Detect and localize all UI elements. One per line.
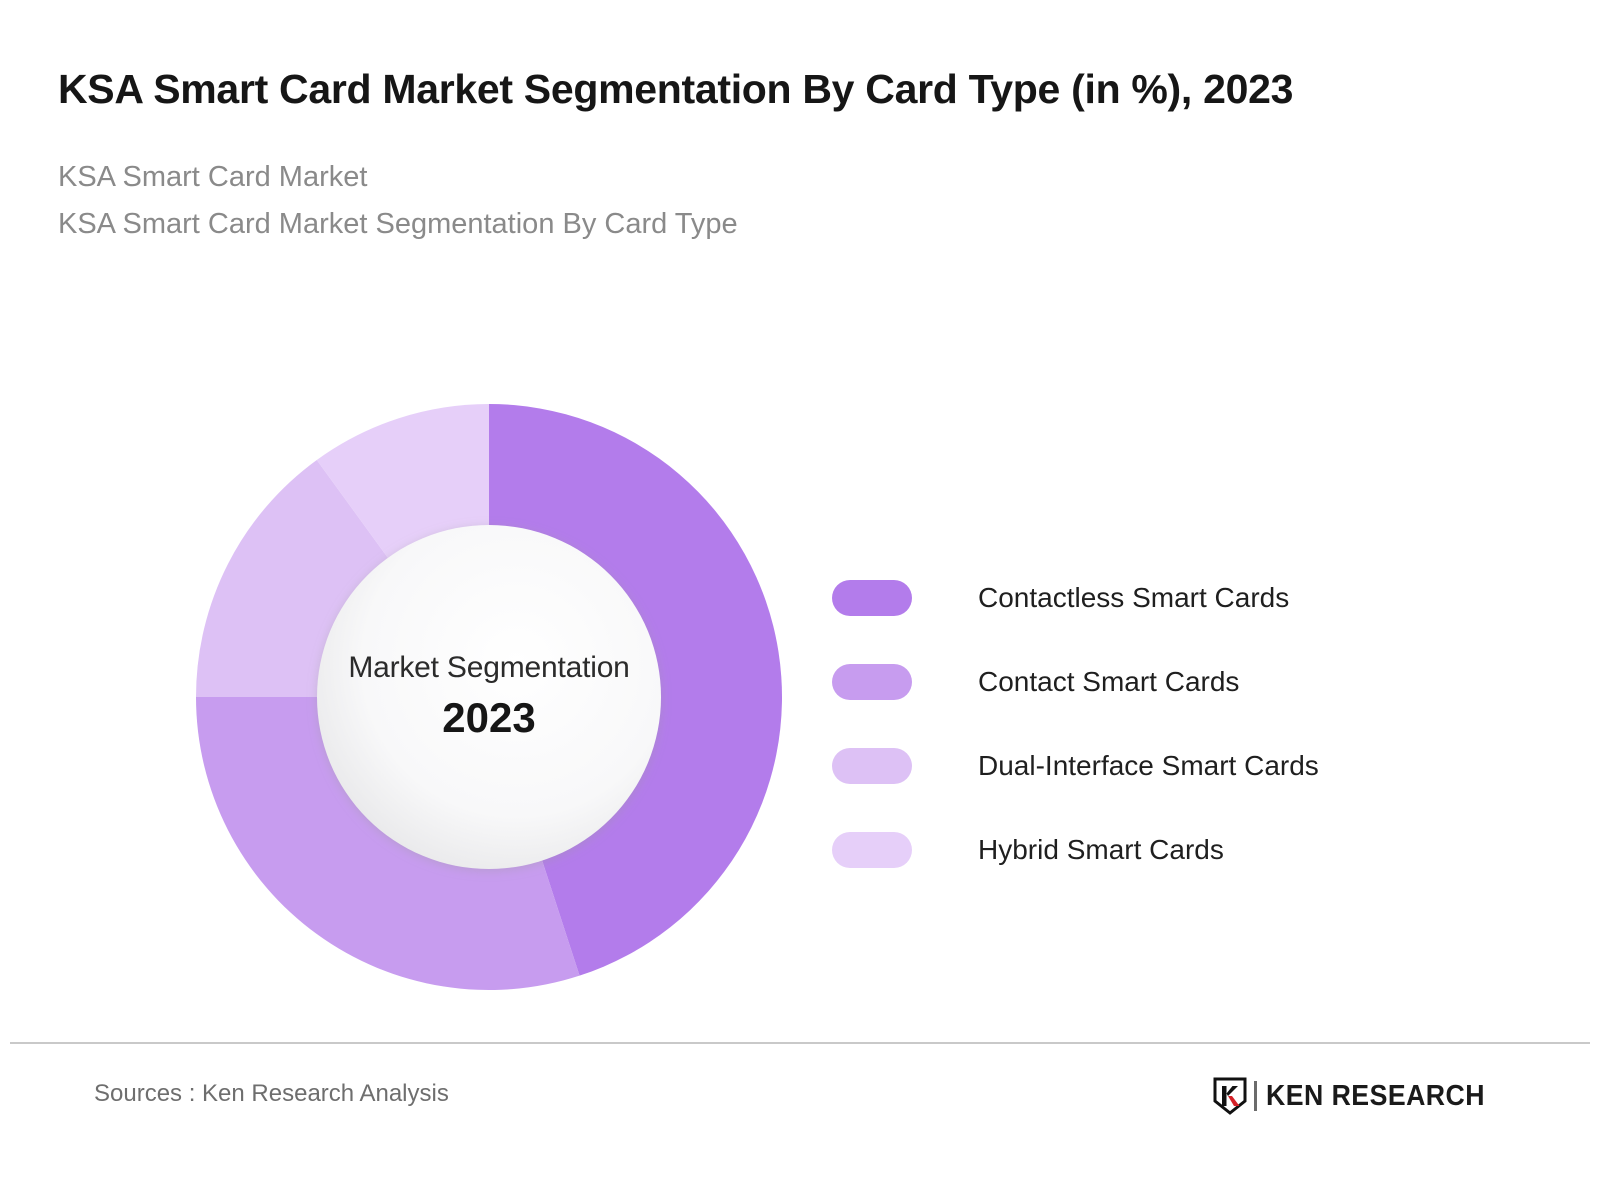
donut-hole [317, 525, 661, 869]
legend-swatch-icon [832, 664, 912, 700]
shield-k-icon [1213, 1077, 1247, 1115]
chart-header: KSA Smart Card Market Segmentation By Ca… [58, 62, 1478, 248]
ken-research-logo: KEN RESEARCH [1213, 1076, 1504, 1116]
chart-page: KSA Smart Card Market Segmentation By Ca… [0, 0, 1600, 1200]
logo-divider [1254, 1081, 1257, 1111]
chart-area: Market Segmentation 2023 Contactless Sma… [0, 380, 1600, 1020]
legend-item[interactable]: Dual-Interface Smart Cards [832, 724, 1452, 808]
donut-svg [194, 402, 784, 992]
subtitle-segmentation: KSA Smart Card Market Segmentation By Ca… [58, 201, 1478, 248]
legend-item-label: Hybrid Smart Cards [978, 833, 1224, 867]
chart-footer: Sources : Ken Research Analysis KEN RESE… [0, 1060, 1600, 1140]
legend-swatch-icon [832, 748, 912, 784]
legend-item[interactable]: Hybrid Smart Cards [832, 808, 1452, 892]
subtitle-market: KSA Smart Card Market [58, 154, 1478, 201]
subtitle-block: KSA Smart Card Market KSA Smart Card Mar… [58, 154, 1478, 248]
logo-wordmark: KEN RESEARCH [1266, 1080, 1485, 1113]
footer-divider [10, 1042, 1590, 1044]
legend-item[interactable]: Contact Smart Cards [832, 640, 1452, 724]
legend-item-label: Contact Smart Cards [978, 665, 1239, 699]
donut-chart: Market Segmentation 2023 [194, 402, 784, 992]
sources-label: Sources : Ken Research Analysis [94, 1080, 449, 1108]
legend-swatch-icon [832, 580, 912, 616]
legend-item[interactable]: Contactless Smart Cards [832, 556, 1452, 640]
chart-legend: Contactless Smart CardsContact Smart Car… [832, 556, 1452, 892]
legend-swatch-icon [832, 832, 912, 868]
page-title: KSA Smart Card Market Segmentation By Ca… [58, 62, 1448, 116]
legend-item-label: Contactless Smart Cards [978, 581, 1289, 615]
legend-item-label: Dual-Interface Smart Cards [978, 749, 1319, 783]
